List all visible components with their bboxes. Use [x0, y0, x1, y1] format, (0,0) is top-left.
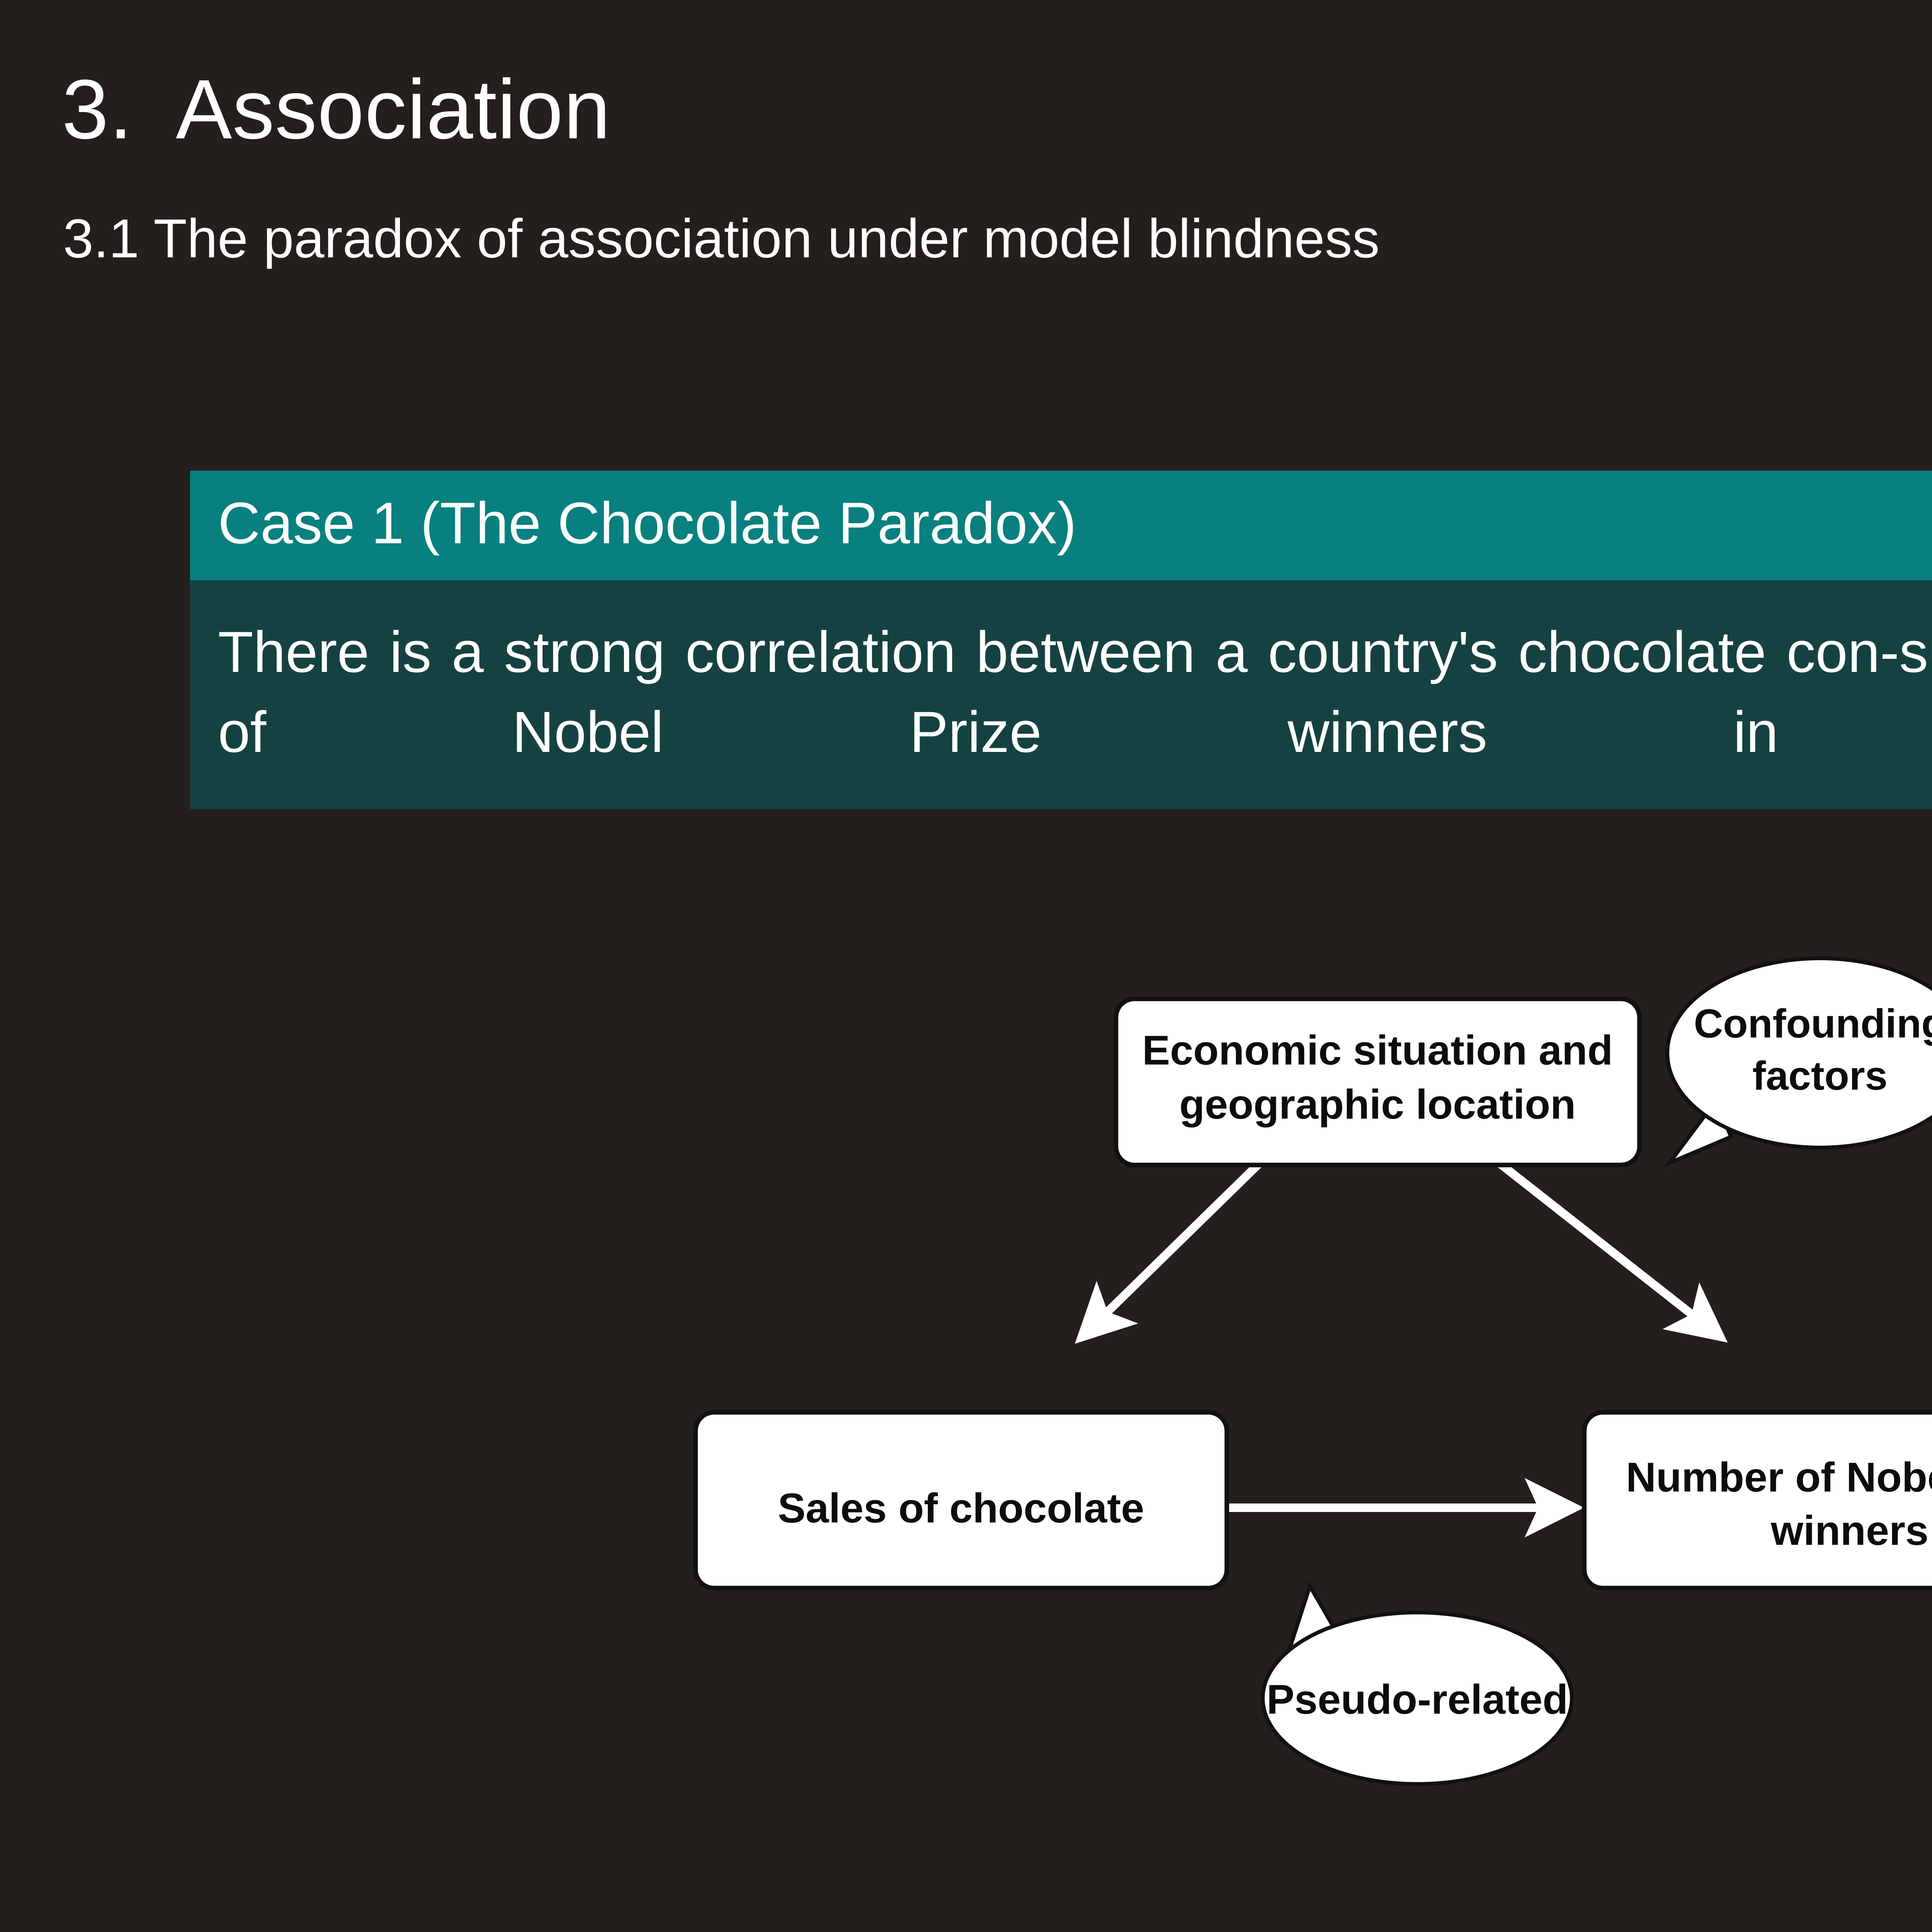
node-sales-of-chocolate: Sales of chocolate — [696, 1412, 1227, 1588]
node-economic-situation-and-geographic-location: Economic situation and geographic locati… — [1116, 999, 1639, 1165]
case-block-title: Case 1 (The Chocolate Paradox) — [190, 471, 1932, 580]
node-number-of-nobel-prize-winners: Number of Nobel Prize winners — [1584, 1412, 1932, 1588]
callout-confounding-factors: Confounding factors — [1667, 958, 1932, 1163]
causal-diagram: Confounding factors Economic situation a… — [0, 900, 1932, 1808]
node-nobel-line2: winners — [1770, 1507, 1929, 1554]
case-block-body: There is a strong correlation between a … — [190, 580, 1932, 809]
case-block: Case 1 (The Chocolate Paradox) There is … — [190, 471, 1932, 809]
node-chocolate-label: Sales of chocolate — [778, 1485, 1144, 1531]
node-nobel-line1: Number of Nobel Prize — [1626, 1454, 1932, 1500]
page-title: 3. Association — [62, 66, 611, 154]
edge-confounder-to-chocolate — [1086, 1163, 1260, 1333]
node-confounder-line1: Economic situation and — [1142, 1027, 1613, 1073]
callout-pseudo-label: Pseudo-related — [1267, 1676, 1568, 1723]
node-confounder-line2: geographic location — [1179, 1081, 1576, 1128]
callout-confounding-line1: Confounding — [1694, 1001, 1932, 1046]
callout-confounding-line2: factors — [1752, 1053, 1888, 1099]
edge-confounder-to-nobel — [1499, 1163, 1716, 1333]
callout-pseudo-related: Pseudo-related — [1263, 1586, 1572, 1784]
page-subtitle: 3.1 The paradox of association under mod… — [63, 209, 1380, 269]
